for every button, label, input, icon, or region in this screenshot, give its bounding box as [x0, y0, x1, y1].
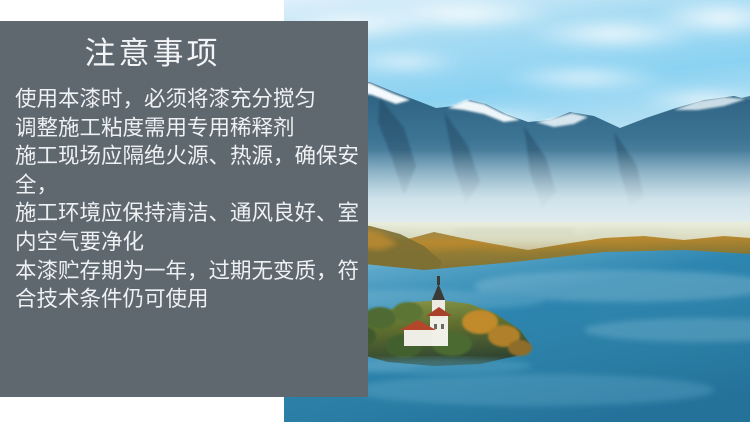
notice-panel: 注意事项 使用本漆时，必须将漆充分搅匀 调整施工粘度需用专用稀释剂 施工现场应隔… [0, 21, 368, 397]
notice-paragraph: 本漆贮存期为一年，过期无变质，符合技术条件仍可使用 [15, 257, 363, 314]
notice-paragraph: 调整施工粘度需用专用稀释剂 [15, 114, 363, 143]
notice-paragraph: 施工环境应保持清洁、通风良好、室内空气要净化 [15, 199, 363, 256]
notice-paragraph: 施工现场应隔绝火源、热源，确保安全， [15, 142, 363, 199]
notice-body: 使用本漆时，必须将漆充分搅匀 调整施工粘度需用专用稀释剂 施工现场应隔绝火源、热… [15, 85, 363, 314]
notice-paragraph: 使用本漆时，必须将漆充分搅匀 [15, 85, 363, 114]
page-title: 注意事项 [0, 35, 305, 73]
slide-canvas: 注意事项 使用本漆时，必须将漆充分搅匀 调整施工粘度需用专用稀释剂 施工现场应隔… [0, 0, 750, 422]
